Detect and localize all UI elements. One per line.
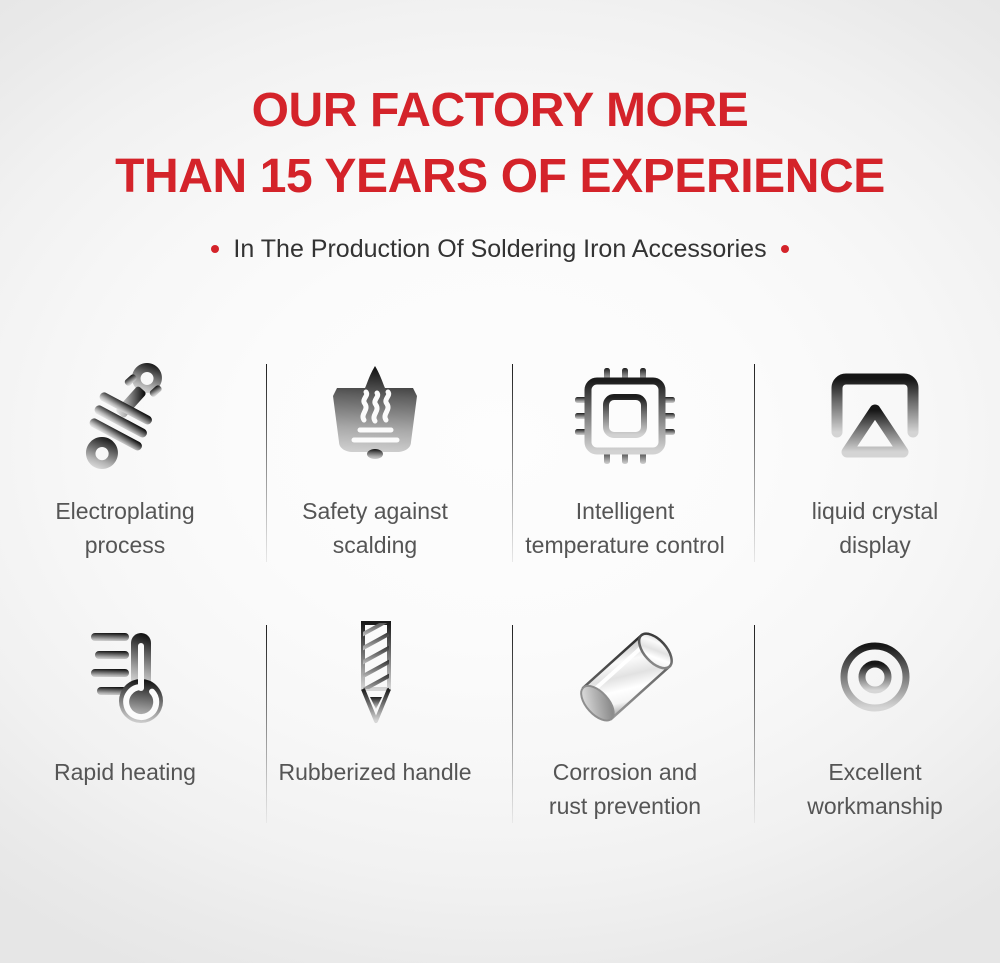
- feature-label-line-2: display: [812, 528, 939, 562]
- feature-label: Electroplating process: [55, 494, 194, 562]
- feature-item-lcd-display: liquid crystal display: [750, 356, 1000, 562]
- feature-label: liquid crystal display: [812, 494, 939, 562]
- feature-item-electroplating: Electroplating process: [0, 356, 250, 562]
- feature-item-safety-scalding: Safety against scalding: [250, 356, 500, 562]
- fast-thermometer-icon: [69, 617, 181, 737]
- feature-label-line-1: Excellent: [807, 755, 943, 789]
- feature-row-1: Electroplating process: [0, 356, 1000, 562]
- feature-item-workmanship: Excellent workmanship: [750, 617, 1000, 823]
- feature-item-temperature-control: Intelligent temperature control: [500, 356, 750, 562]
- feature-label-line-1: Rubberized handle: [278, 755, 471, 789]
- feature-label-line-1: Corrosion and: [549, 755, 701, 789]
- feature-label-line-1: Electroplating: [55, 494, 194, 528]
- subtitle-text: In The Production Of Soldering Iron Acce…: [233, 234, 766, 264]
- lcd-screen-icon: [823, 356, 927, 476]
- feature-label-line-1: Rapid heating: [54, 755, 196, 789]
- feature-grid: Electroplating process: [0, 356, 1000, 823]
- feature-label-line-2: workmanship: [807, 789, 943, 823]
- rubber-handle-icon: [340, 617, 410, 737]
- feature-item-rapid-heating: Rapid heating: [0, 617, 250, 823]
- red-dot-bullet-right-icon: [781, 245, 789, 253]
- headline-line-1: OUR FACTORY MORE: [0, 78, 1000, 144]
- feature-label-line-1: Intelligent: [525, 494, 724, 528]
- feature-label-line-2: process: [55, 528, 194, 562]
- crosshair-target-icon: [823, 617, 927, 737]
- feature-label-line-2: temperature control: [525, 528, 724, 562]
- page-title: OUR FACTORY MORE THAN 15 YEARS OF EXPERI…: [0, 0, 1000, 210]
- subtitle: In The Production Of Soldering Iron Acce…: [0, 234, 1000, 264]
- feature-label: Rapid heating: [54, 755, 196, 789]
- feature-label: Excellent workmanship: [807, 755, 943, 823]
- feature-label-line-1: Safety against: [302, 494, 448, 528]
- red-dot-bullet-left-icon: [211, 245, 219, 253]
- feature-label: Corrosion and rust prevention: [549, 755, 701, 823]
- feature-label-line-1: liquid crystal: [812, 494, 939, 528]
- feature-label-line-2: rust prevention: [549, 789, 701, 823]
- headline-line-2: THAN 15 YEARS OF EXPERIENCE: [0, 144, 1000, 210]
- metal-rod-icon: [565, 617, 685, 737]
- heat-shield-steam-icon: [319, 356, 431, 476]
- feature-row-2: Rapid heating: [0, 617, 1000, 823]
- feature-label-line-2: scalding: [302, 528, 448, 562]
- microchip-cpu-icon: [571, 356, 679, 476]
- promo-banner: OUR FACTORY MORE THAN 15 YEARS OF EXPERI…: [0, 0, 1000, 963]
- feature-label: Intelligent temperature control: [525, 494, 724, 562]
- feature-item-corrosion-prevention: Corrosion and rust prevention: [500, 617, 750, 823]
- feature-label: Safety against scalding: [302, 494, 448, 562]
- electroplating-tool-icon: [70, 356, 180, 476]
- feature-label: Rubberized handle: [278, 755, 471, 789]
- feature-item-rubberized-handle: Rubberized handle: [250, 617, 500, 823]
